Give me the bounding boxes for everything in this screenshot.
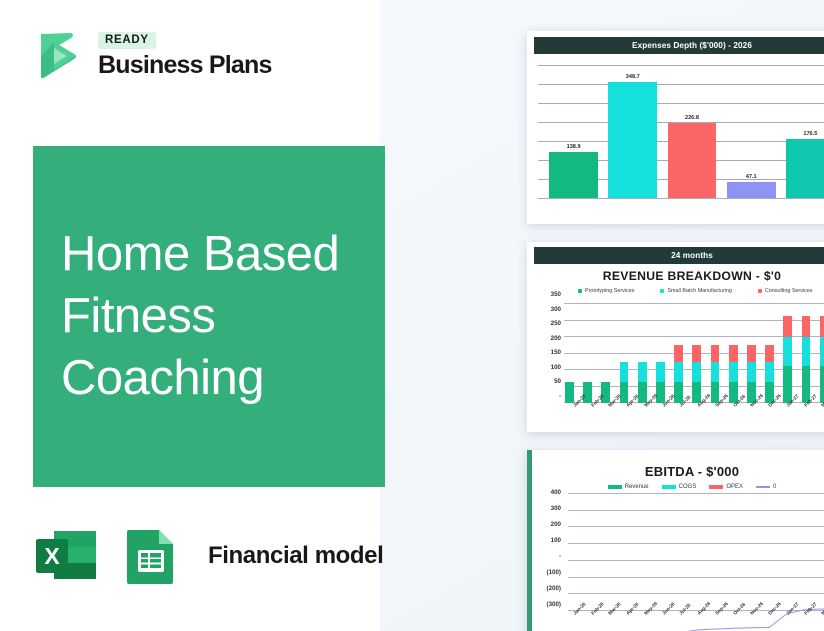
revenue-bar-segment (802, 316, 811, 337)
ebitda-bar-column (587, 493, 596, 611)
legend-label: 0 (773, 484, 776, 490)
legend-item: 0 (756, 484, 776, 490)
legend-item: COGS (662, 484, 697, 490)
expenses-bar-value: 348.7 (626, 74, 640, 80)
expenses-bar: 47.1 (727, 65, 776, 198)
revenue-bar-column (711, 295, 720, 403)
chart-card-revenue: 24 months REVENUE BREAKDOWN - $'0 Protot… (527, 242, 824, 432)
revenue-bar-segment (565, 382, 574, 403)
ebitda-bar-column (820, 493, 824, 611)
revenue-bar-column (765, 295, 774, 403)
axis-tick-label: 200 (534, 336, 564, 342)
revenue-y-axis: 35030025020015010050- (534, 295, 564, 403)
expenses-bar-rect (549, 152, 598, 198)
expenses-bar: 138.9 (549, 65, 598, 198)
google-sheets-icon (117, 522, 185, 590)
revenue-bar-segment (711, 345, 720, 362)
revenue-bar-column (674, 295, 683, 403)
revenue-bar-segment (674, 345, 683, 362)
revenue-bar-column (565, 295, 574, 403)
chart-card-expenses: Expenses Depth ($'000) - 2026 138.9348.7… (527, 31, 824, 224)
revenue-bar-group (564, 295, 824, 403)
legend-label: Revenue (625, 484, 649, 490)
expenses-bar-value: 47.1 (746, 174, 757, 180)
revenue-bar-column (656, 295, 665, 403)
legend-swatch (758, 289, 762, 293)
revenue-bar-segment (620, 382, 629, 403)
revenue-bar-segment (729, 345, 738, 362)
revenue-bar-segment (674, 382, 683, 403)
ebitda-bar-column (659, 493, 668, 611)
revenue-bar-segment (711, 382, 720, 403)
revenue-bar-segment (783, 316, 792, 337)
ebitda-bar-column (784, 493, 793, 611)
revenue-bar-column (747, 295, 756, 403)
page-title: Home Based Fitness Coaching (61, 223, 391, 410)
revenue-bar-segment (656, 362, 665, 382)
axis-tick-label: 300 (534, 506, 564, 512)
revenue-bar-column (802, 295, 811, 403)
ebitda-bar-column (766, 493, 775, 611)
ebitda-bar-column (748, 493, 757, 611)
revenue-bar-segment (747, 362, 756, 382)
ebitda-bar-column (695, 493, 704, 611)
ebitda-bar-group (568, 493, 824, 611)
revenue-bar-column (601, 295, 610, 403)
ebitda-chart-title: EBITDA - $'000 (534, 464, 824, 479)
legend-item: OPEX (709, 484, 743, 490)
ebitda-bar-column (713, 493, 722, 611)
revenue-bar-segment (620, 362, 629, 382)
revenue-bar-segment (747, 345, 756, 362)
revenue-x-axis: Jan-26Feb-26Mar-26Apr-26May-26Jun-26Jul-… (564, 403, 824, 429)
revenue-legend: Prototyping ServicesSmall Batch Manufact… (534, 288, 824, 294)
ebitda-bar-column (677, 493, 686, 611)
ebitda-bar-column (730, 493, 739, 611)
revenue-bar-segment (820, 366, 824, 403)
axis-tick-label: 50 (534, 379, 564, 385)
brand-logo-block: READY Business Plans (30, 26, 272, 84)
legend-label: COGS (679, 484, 697, 490)
legend-item: Consulting Services (758, 288, 813, 294)
ebitda-bar-column (623, 493, 632, 611)
ebitda-bar-column (569, 493, 578, 611)
axis-tick-label: 400 (534, 490, 564, 496)
poster-canvas: READY Business Plans Home Based Fitness … (0, 0, 824, 631)
expenses-plot: 138.9348.7226.847.1176.5 (534, 57, 824, 207)
revenue-bar-segment (765, 362, 774, 382)
revenue-chart-title: REVENUE BREAKDOWN - $'0 (534, 269, 824, 283)
axis-tick-label: 100 (534, 365, 564, 371)
revenue-plot: 35030025020015010050- (534, 295, 824, 403)
revenue-bar-column (783, 295, 792, 403)
legend-swatch (578, 289, 582, 293)
ebitda-x-axis: Jan-26Feb-26Mar-26Apr-26May-26Jun-26Jul-… (564, 611, 824, 631)
revenue-bar-segment (692, 345, 701, 362)
axis-tick-label: 100 (534, 538, 564, 544)
expenses-bar-rect (727, 182, 776, 198)
axis-tick-label: (100) (534, 570, 564, 576)
legend-item: Small Batch Manufacturing (660, 288, 731, 294)
legend-swatch (608, 485, 622, 489)
axis-tick-label: 150 (534, 350, 564, 356)
financial-model-label: Financial model (208, 542, 383, 570)
legend-label: OPEX (726, 484, 743, 490)
ebitda-plot: 400300200100-(100)(200)(300) (534, 493, 824, 611)
revenue-bar-segment (638, 382, 647, 403)
revenue-bar-column (729, 295, 738, 403)
expenses-bar-value: 226.8 (685, 115, 699, 121)
revenue-bar-segment (783, 337, 792, 367)
chart-card-ebitda: EBITDA - $'000 RevenueCOGSOPEX0 40030020… (527, 450, 824, 631)
revenue-bar-column (583, 295, 592, 403)
legend-label: Prototyping Services (585, 288, 634, 294)
revenue-bar-segment (765, 345, 774, 362)
revenue-bar-segment (820, 337, 824, 367)
expenses-chart-band: Expenses Depth ($'000) - 2026 (534, 37, 824, 54)
brand-text: READY Business Plans (98, 32, 272, 78)
legend-item: Prototyping Services (578, 288, 634, 294)
revenue-bar-segment (692, 382, 701, 403)
legend-swatch (660, 289, 664, 293)
revenue-bar-segment (802, 337, 811, 367)
svg-text:X: X (44, 543, 60, 569)
revenue-bar-segment (729, 362, 738, 382)
expenses-bar-value: 176.5 (803, 131, 817, 137)
legend-label: Small Batch Manufacturing (667, 288, 731, 294)
axis-tick-label: (200) (534, 586, 564, 592)
revenue-bar-segment (656, 382, 665, 403)
axis-tick-label: - (534, 554, 564, 560)
play-triangle-logo-icon (30, 26, 88, 84)
expenses-bar: 226.8 (668, 65, 717, 198)
expenses-bar-rect (786, 139, 824, 198)
expenses-bar: 176.5 (786, 65, 824, 198)
ebitda-bar-column (802, 493, 811, 611)
axis-tick-label: - (534, 394, 564, 400)
ready-badge: READY (98, 32, 156, 49)
expenses-bar-group: 138.9348.7226.847.1176.5 (544, 65, 824, 198)
expenses-bar-value: 138.9 (567, 144, 581, 150)
revenue-bar-segment (674, 362, 683, 382)
revenue-bar-segment (692, 362, 701, 382)
axis-tick-label: 250 (534, 321, 564, 327)
revenue-bar-column (620, 295, 629, 403)
expenses-bar-rect (668, 123, 717, 198)
expenses-bar: 348.7 (608, 65, 657, 198)
revenue-bar-segment (802, 366, 811, 403)
axis-tick-label: 200 (534, 522, 564, 528)
revenue-bar-segment (783, 366, 792, 403)
microsoft-excel-icon: X (32, 522, 100, 590)
legend-label: Consulting Services (765, 288, 813, 294)
revenue-bar-segment (638, 362, 647, 382)
ebitda-bar-column (641, 493, 650, 611)
revenue-bar-column (638, 295, 647, 403)
ebitda-y-axis: 400300200100-(100)(200)(300) (534, 493, 564, 611)
expenses-bar-rect (608, 82, 657, 198)
legend-swatch (709, 485, 723, 489)
revenue-bar-column (692, 295, 701, 403)
axis-tick-label: (300) (534, 602, 564, 608)
revenue-bar-segment (711, 362, 720, 382)
axis-tick-label: 300 (534, 307, 564, 313)
revenue-bar-column (820, 295, 824, 403)
axis-tick-label: 350 (534, 292, 564, 298)
ebitda-bar-column (605, 493, 614, 611)
ebitda-legend: RevenueCOGSOPEX0 (534, 484, 824, 490)
format-row: X Financial model (32, 522, 383, 590)
legend-item: Revenue (608, 484, 649, 490)
brand-name: Business Plans (98, 53, 272, 78)
revenue-bar-segment (820, 316, 824, 337)
revenue-chart-band: 24 months (534, 247, 824, 264)
legend-swatch (662, 485, 676, 489)
legend-swatch (756, 486, 770, 488)
